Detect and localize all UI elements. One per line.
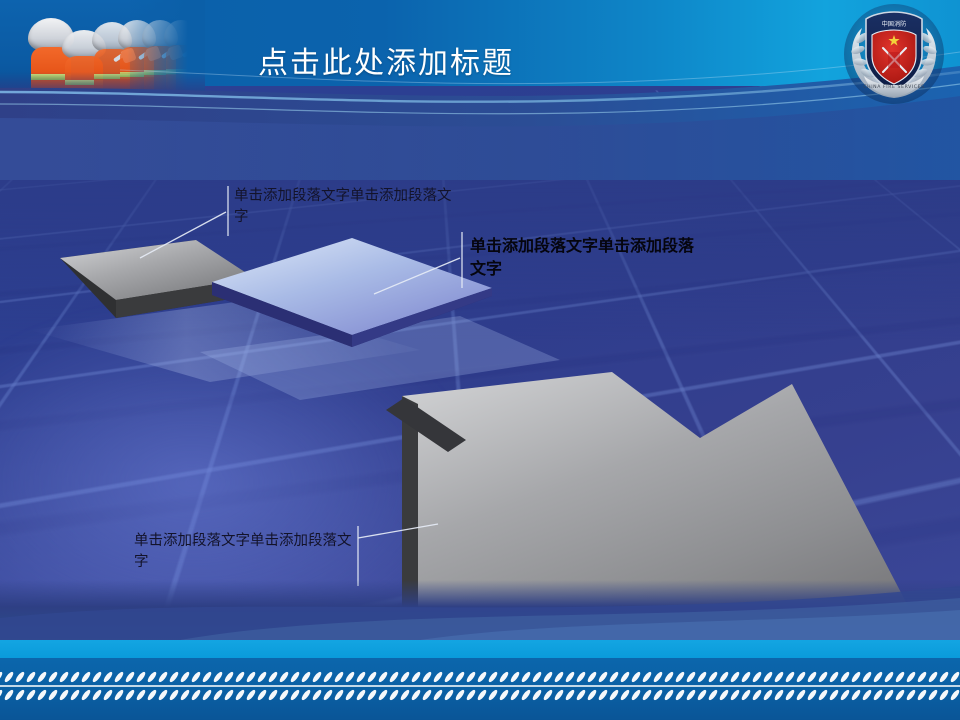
- photo-bottom-fade: [0, 72, 205, 98]
- footer-dark-band: [0, 580, 960, 640]
- firefighters-photo: [0, 0, 205, 98]
- footer-wheat-pattern: [0, 666, 960, 710]
- badge-text-cn: 中国消防: [882, 20, 907, 28]
- callout-label-3: 单击添加段落文字单击添加段落文字: [134, 531, 356, 573]
- page-title: 点击此处添加标题: [258, 38, 514, 82]
- footer-blue-band: [0, 658, 960, 720]
- callout-label-2: 单击添加段落文字单击添加段落文字: [470, 234, 702, 280]
- callout-label-1: 单击添加段落文字单击添加段落文字: [234, 186, 456, 228]
- slide-canvas: 点击此处添加标题: [0, 0, 960, 720]
- china-fire-services-badge-icon: 中国消防 CHINA FIRE SERVICES: [842, 2, 946, 106]
- badge-text-en: CHINA FIRE SERVICES: [863, 84, 924, 90]
- footer-swoosh: [0, 580, 960, 640]
- footer-cyan-stripe: [0, 640, 960, 658]
